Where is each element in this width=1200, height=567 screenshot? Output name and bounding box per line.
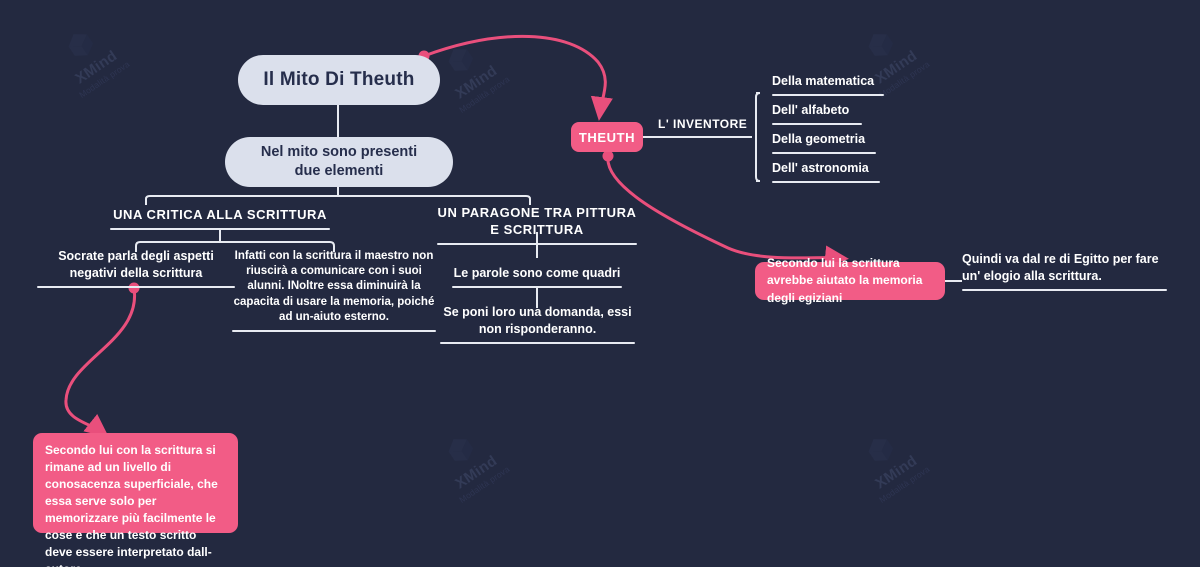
topic-underline (772, 152, 876, 154)
invention-label: Dell' astronomia (772, 160, 880, 182)
topic-critica-label: UNA CRITICA ALLA SCRITTURA (110, 206, 330, 228)
root-node-label: Il Mito Di Theuth (263, 68, 414, 92)
main-branch-node: Nel mito sono presenti due elementi (225, 137, 453, 187)
watermark-subtitle: Modalità prova (877, 59, 931, 100)
topic-critica: UNA CRITICA ALLA SCRITTURA (110, 205, 330, 230)
invention-label: Della matematica (772, 73, 884, 95)
root-node: Il Mito Di Theuth (238, 55, 440, 105)
xmind-logo-icon (857, 21, 904, 68)
topic-infatti-label: Infatti con la scrittura il maestro non … (232, 249, 436, 330)
topic-underline (437, 243, 637, 245)
topic-socrate-label: Socrate parla degli aspetti negativi del… (37, 248, 235, 286)
topic-elogio-label: Quindi va dal re di Egitto per fare un' … (962, 251, 1167, 289)
topic-underline (440, 342, 635, 344)
branch-label-inventore-text: L' INVENTORE (658, 117, 747, 131)
topic-socrate: Socrate parla degli aspetti negativi del… (37, 246, 235, 288)
watermark: XMind Modalità prova (847, 419, 931, 505)
mindmap-canvas[interactable]: XMind Modalità prova XMind Modalità prov… (0, 0, 1200, 567)
xmind-logo-icon (437, 36, 484, 83)
watermark-title: XMind (867, 449, 925, 496)
watermark-subtitle: Modalità prova (457, 464, 511, 505)
watermark-subtitle: Modalità prova (877, 464, 931, 505)
callout-memoria-egizi: Secondo lui la scrittura avrebbe aiutato… (755, 262, 945, 300)
watermark-title: XMind (67, 44, 125, 91)
topic-underline (772, 181, 880, 183)
xmind-logo-icon (437, 426, 484, 473)
topic-paragone-label: UN PARAGONE TRA PITTURA E SCRITTURA (437, 204, 637, 243)
xmind-logo-icon (57, 21, 104, 68)
xmind-logo-icon (857, 426, 904, 473)
topic-infatti: Infatti con la scrittura il maestro non … (232, 246, 436, 332)
topic-domanda: Se poni loro una domanda, essi non rispo… (440, 302, 635, 344)
invention-label: Dell' alfabeto (772, 102, 862, 124)
watermark: XMind Modalità prova (427, 29, 511, 115)
topic-underline (37, 286, 235, 288)
callout-memoria-egizi-label: Secondo lui la scrittura avrebbe aiutato… (767, 255, 933, 307)
theuth-label: THEUTH (579, 130, 635, 145)
watermark-subtitle: Modalità prova (457, 74, 511, 115)
topic-underline (232, 330, 436, 332)
callout-conoscenza: Secondo lui con la scrittura si rimane a… (33, 433, 238, 533)
topic-underline (772, 94, 884, 96)
theuth-node: THEUTH (571, 122, 643, 152)
topic-parole-label: Le parole sono come quadri (452, 265, 622, 287)
topic-underline (962, 289, 1167, 291)
invention-item-2: Della geometria (772, 130, 876, 154)
main-branch-label: Nel mito sono presenti due elementi (247, 143, 431, 180)
topic-underline (772, 123, 862, 125)
branch-label-inventore: L' INVENTORE (658, 117, 747, 131)
watermark-subtitle: Modalità prova (77, 59, 131, 100)
topic-domanda-label: Se poni loro una domanda, essi non rispo… (440, 304, 635, 342)
invention-item-3: Dell' astronomia (772, 159, 880, 183)
watermark-title: XMind (447, 449, 505, 496)
invention-item-0: Della matematica (772, 72, 884, 96)
topic-elogio: Quindi va dal re di Egitto per fare un' … (962, 251, 1167, 291)
watermark: XMind Modalità prova (47, 14, 131, 100)
topic-paragone: UN PARAGONE TRA PITTURA E SCRITTURA (437, 203, 637, 245)
watermark: XMind Modalità prova (427, 419, 511, 505)
watermark-title: XMind (447, 59, 505, 106)
topic-underline (452, 286, 622, 288)
callout-conoscenza-label: Secondo lui con la scrittura si rimane a… (45, 443, 218, 567)
invention-label: Della geometria (772, 131, 876, 153)
topic-parole: Le parole sono come quadri (452, 262, 622, 288)
topic-underline (110, 228, 330, 230)
invention-item-1: Dell' alfabeto (772, 101, 862, 125)
